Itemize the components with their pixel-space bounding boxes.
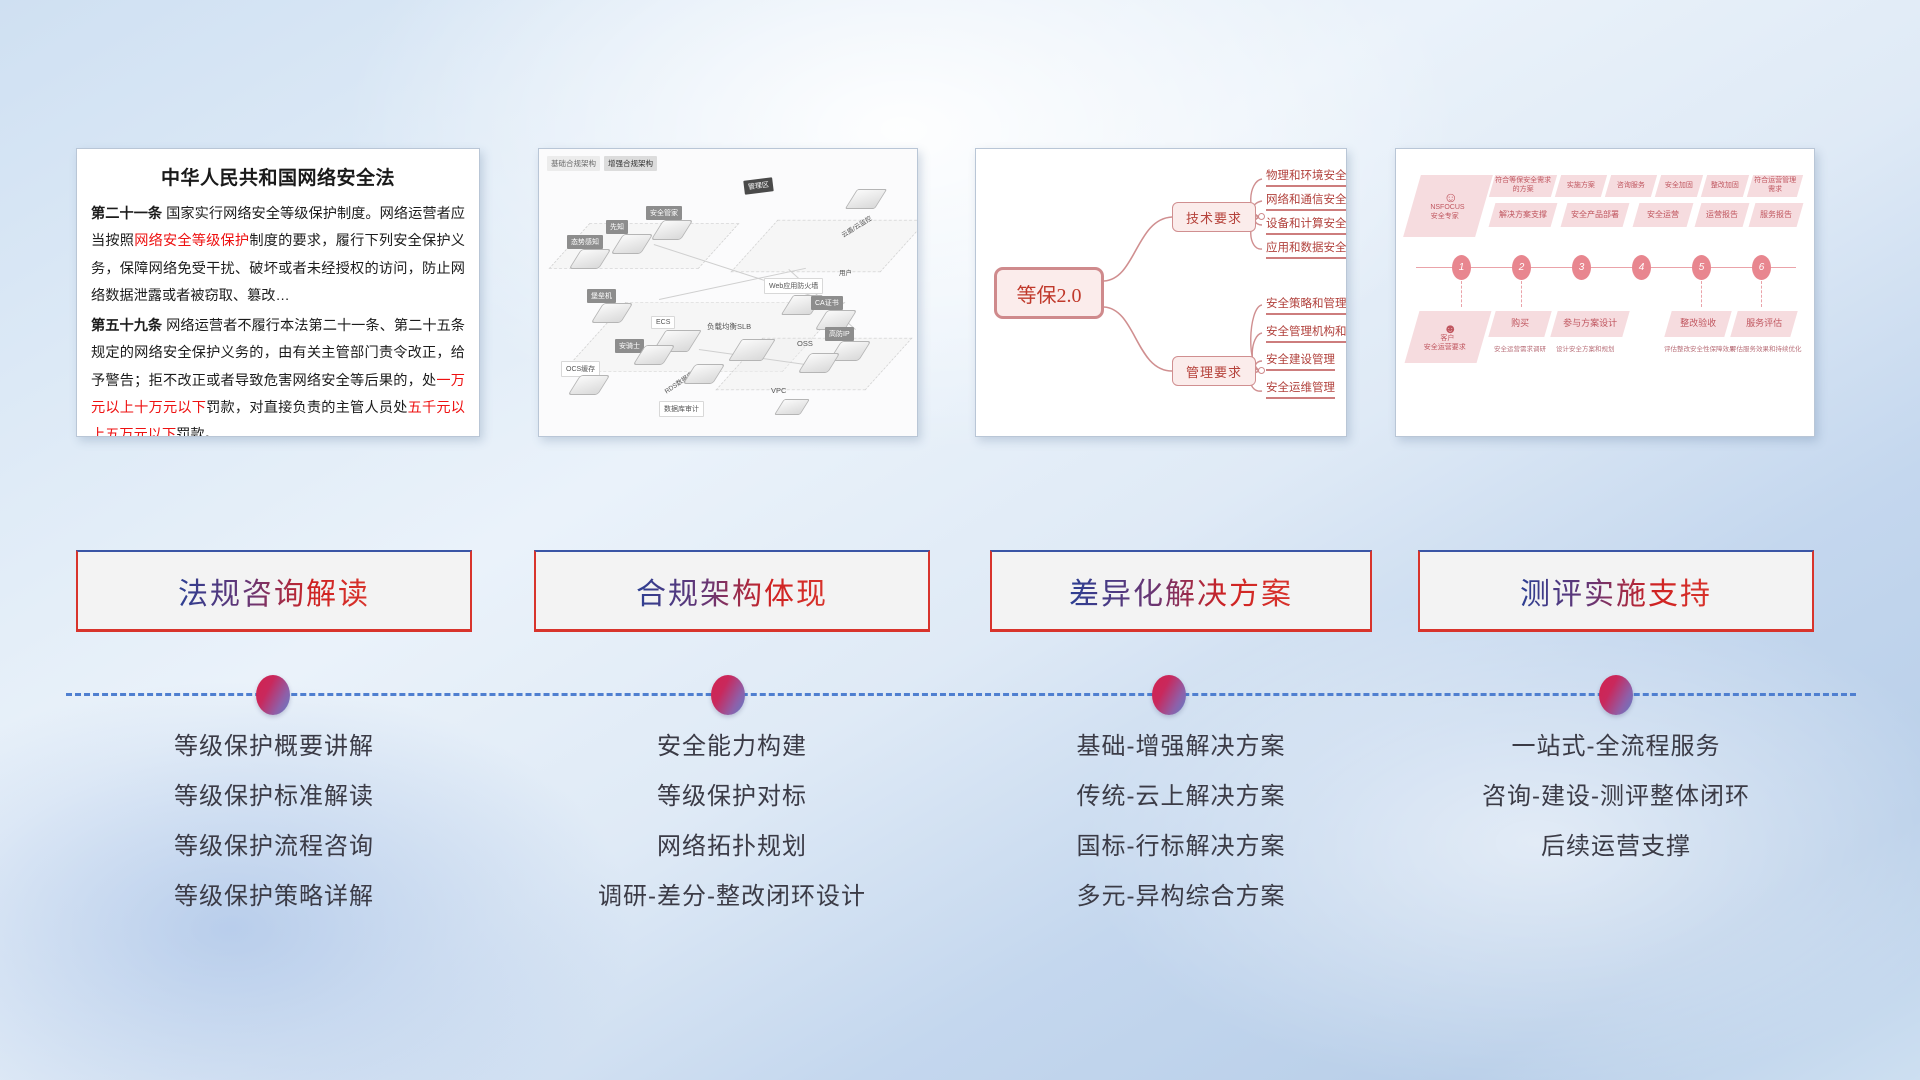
top-band: 安全加固 [1655,175,1703,197]
list-item: 一站式-全流程服务 [1418,735,1814,759]
article-59-text-2: 罚款，对直接负责的主管人员处 [206,400,407,416]
top-band-label: 安全加固 [1665,182,1693,191]
pillar-header-3-label: 差异化解决方案 [1069,569,1293,613]
node-icon [845,189,887,209]
timeline-dot-2[interactable] [711,675,745,715]
mindmap-node-dot [1258,367,1265,374]
top-band: 咨询服务 [1605,175,1657,197]
bottom-sub-label: 评估服务效果和持续优化 [1730,343,1802,353]
label-xianzhi: 先知 [606,220,628,234]
pillar-header-4[interactable]: 测评实施支持 [1418,550,1814,632]
label-anti-ddos-ip: 高防IP [825,327,854,341]
mid-band: 解决方案支撑 [1489,203,1558,227]
person-star-icon: ☺ [1443,190,1457,204]
timeline-dot-1[interactable] [256,675,290,715]
timeline [66,693,1856,695]
mindmap-root: 等保2.0 [994,267,1104,319]
step-connector [1521,281,1522,307]
mid-band-label: 安全运营 [1647,210,1679,220]
top-band: 符合运营管理需求 [1747,175,1803,197]
label-waf: Web应用防火墙 [764,278,823,294]
client-block: ☻ 客户 安全运营要求 [1405,311,1492,363]
mindmap-leaf: 设备和计算安全 [1266,215,1347,235]
list-item: 等级保护对标 [534,785,930,809]
tab-basic-architecture[interactable]: 基础合规架构 [547,156,600,171]
mindmap-leaf: 安全管理机构和人员 [1266,323,1347,343]
node-icon [568,375,610,395]
mindmap-branch-management: 管理要求 [1172,356,1256,386]
article-59-label: 第五十九条 [91,318,162,334]
label-user: 用户 [839,267,852,277]
expert-title: NSFOCUS [1430,204,1464,213]
list-item: 传统-云上解决方案 [990,785,1372,809]
bottom-band: 整改验收 [1664,311,1731,337]
list-item: 国标-行标解决方案 [990,835,1372,859]
pillar-column-1: 等级保护概要讲解 等级保护标准解读 等级保护流程咨询 等级保护策略详解 [76,735,472,935]
mid-band: 服务报告 [1749,203,1804,227]
top-band: 整改加固 [1701,175,1749,197]
pillar-column-3: 基础-增强解决方案 传统-云上解决方案 国标-行标解决方案 多元-异构综合方案 [990,735,1372,935]
top-band-label: 咨询服务 [1617,182,1645,191]
list-item: 等级保护策略详解 [76,885,472,909]
step-number: 4 [1632,255,1651,280]
mindmap: 等保2.0 技术要求 物理和环境安全 网络和通信安全 设备和计算安全 应用和数据… [976,149,1346,436]
card-cybersecurity-law: 中华人民共和国网络安全法 第二十一条 国家实行网络安全等级保护制度。网络运营者应… [76,148,480,437]
bottom-band-label: 服务评估 [1746,318,1782,329]
card-cloud-architecture: 基础合规架构 增强合规架构 管理区 安全管家 先知 态势感知 堡垒机 E [538,148,918,437]
label-slb: 负载均衡SLB [707,321,751,332]
mid-band-label: 服务报告 [1760,210,1792,220]
bottom-band-label: 购买 [1511,318,1529,329]
step-number: 5 [1692,255,1711,280]
zone-plate [730,220,918,272]
list-item: 调研-差分-整改闭环设计 [534,885,930,909]
top-band-label: 整改加固 [1711,182,1739,191]
timeline-dot-3[interactable] [1152,675,1186,715]
timeline-dot-4[interactable] [1599,675,1633,715]
mindmap-branch-technical: 技术要求 [1172,202,1256,232]
list-item: 咨询-建设-测评整体闭环 [1418,785,1814,809]
roadmap-diagram: ☺ NSFOCUS 安全专家 符合等保安全需求的方案 实施方案 咨询服务 安全加… [1396,149,1814,436]
mindmap-leaf: 安全运维管理 [1266,379,1335,399]
client-title: 客户 [1440,335,1454,344]
mindmap-leaf: 应用和数据安全 [1266,239,1347,259]
article-59-text-3: 罚款。 [176,427,219,437]
law-title: 中华人民共和国网络安全法 [91,163,465,190]
top-band: 符合等保安全需求的方案 [1489,175,1557,197]
card-service-roadmap: ☺ NSFOCUS 安全专家 符合等保安全需求的方案 实施方案 咨询服务 安全加… [1395,148,1815,437]
mid-band: 安全产品部署 [1561,203,1630,227]
pillar-header-1-label: 法规咨询解读 [178,569,370,613]
label-oss: OSS [797,339,813,348]
mid-band: 安全运营 [1633,203,1694,227]
node-icon [774,399,810,415]
reference-cards-row: 中华人民共和国网络安全法 第二十一条 国家实行网络安全等级保护制度。网络运营者应… [0,148,1920,443]
pillar-header-2[interactable]: 合规架构体现 [534,550,930,632]
step-number: 1 [1452,255,1471,280]
expert-block: ☺ NSFOCUS 安全专家 [1403,175,1493,237]
bottom-sub-label: 评估整改安全性保障效果 [1664,343,1736,353]
person-check-icon: ☻ [1444,322,1458,335]
label-ecs: ECS [651,316,675,329]
pillar-header-4-label: 测评实施支持 [1520,569,1712,613]
top-band-label: 符合运营管理需求 [1753,177,1797,195]
mindmap-leaf: 物理和环境安全 [1266,167,1347,187]
article-21-label: 第二十一条 [91,206,162,222]
top-band: 实施方案 [1555,175,1607,197]
tab-enhanced-architecture[interactable]: 增强合规架构 [604,156,657,171]
expert-subtitle: 安全专家 [1431,213,1459,222]
list-item: 等级保护概要讲解 [76,735,472,759]
bottom-sub-label: 设计安全方案和规划 [1556,343,1615,353]
article-21-highlight: 网络安全等级保护 [134,233,249,249]
list-item: 等级保护流程咨询 [76,835,472,859]
bottom-band: 服务评估 [1730,311,1797,337]
step-number: 3 [1572,255,1591,280]
list-item: 基础-增强解决方案 [990,735,1372,759]
label-management-zone: 管理区 [743,177,773,194]
bottom-band: 参与方案设计 [1550,311,1629,337]
mindmap-node-dot [1258,213,1265,220]
top-band-label: 实施方案 [1567,182,1595,191]
label-bastion-host: 堡垒机 [587,289,616,303]
pillar-headline-row: 法规咨询解读 合规架构体现 差异化解决方案 测评实施支持 [0,550,1920,640]
list-item: 多元-异构综合方案 [990,885,1372,909]
bottom-band: 购买 [1488,311,1551,337]
mindmap-leaf: 安全策略和管理制度 [1266,295,1347,315]
step-number: 2 [1512,255,1531,280]
list-item: 等级保护标准解读 [76,785,472,809]
mid-band-label: 安全产品部署 [1571,210,1619,220]
mid-band-label: 运营报告 [1706,210,1738,220]
card-mindmap-dengbao: 等保2.0 技术要求 物理和环境安全 网络和通信安全 设备和计算安全 应用和数据… [975,148,1347,437]
bottom-band-label: 整改验收 [1680,318,1716,329]
pillar-header-1[interactable]: 法规咨询解读 [76,550,472,632]
client-subtitle: 安全运营要求 [1424,344,1466,353]
label-anqishi: 安骑士 [615,339,644,353]
bottom-sub-label: 安全运营需求调研 [1494,343,1546,353]
mindmap-leaf: 网络和通信安全 [1266,191,1347,211]
timeline-dashed-line [66,693,1856,696]
pillar-header-3[interactable]: 差异化解决方案 [990,550,1372,632]
label-db-audit: 数据库审计 [659,401,704,417]
label-security-butler: 安全管家 [646,206,682,220]
list-item: 安全能力构建 [534,735,930,759]
bottom-band-label: 参与方案设计 [1563,318,1617,329]
label-ca-cert: CA证书 [811,296,843,310]
law-article-59: 第五十九条 网络运营者不履行本法第二十一条、第二十五条规定的网络安全保护义务的，… [91,313,465,437]
mid-band: 运营报告 [1695,203,1750,227]
step-number: 6 [1752,255,1771,280]
architecture-tabs: 基础合规架构 增强合规架构 [547,156,657,171]
list-item: 后续运营支撑 [1418,835,1814,859]
step-connector [1761,281,1762,307]
pillar-header-2-label: 合规架构体现 [636,569,828,613]
architecture-diagram: 基础合规架构 增强合规架构 管理区 安全管家 先知 态势感知 堡垒机 E [539,149,917,436]
top-band-label: 符合等保安全需求的方案 [1495,177,1551,195]
step-connector [1701,281,1702,307]
label-vpc: VPC [771,386,786,395]
mid-band-label: 解决方案支撑 [1499,210,1547,220]
roadmap-axis [1416,267,1796,268]
label-situational-awareness: 态势感知 [567,235,603,249]
list-item: 网络拓扑规划 [534,835,930,859]
step-connector [1461,281,1462,307]
law-body: 中华人民共和国网络安全法 第二十一条 国家实行网络安全等级保护制度。网络运营者应… [77,149,479,437]
pillar-column-2: 安全能力构建 等级保护对标 网络拓扑规划 调研-差分-整改闭环设计 [534,735,930,935]
pillar-column-4: 一站式-全流程服务 咨询-建设-测评整体闭环 后续运营支撑 [1418,735,1814,885]
law-article-21: 第二十一条 国家实行网络安全等级保护制度。网络运营者应当按照网络安全等级保护制度… [91,201,465,310]
mindmap-leaf: 安全建设管理 [1266,351,1335,371]
